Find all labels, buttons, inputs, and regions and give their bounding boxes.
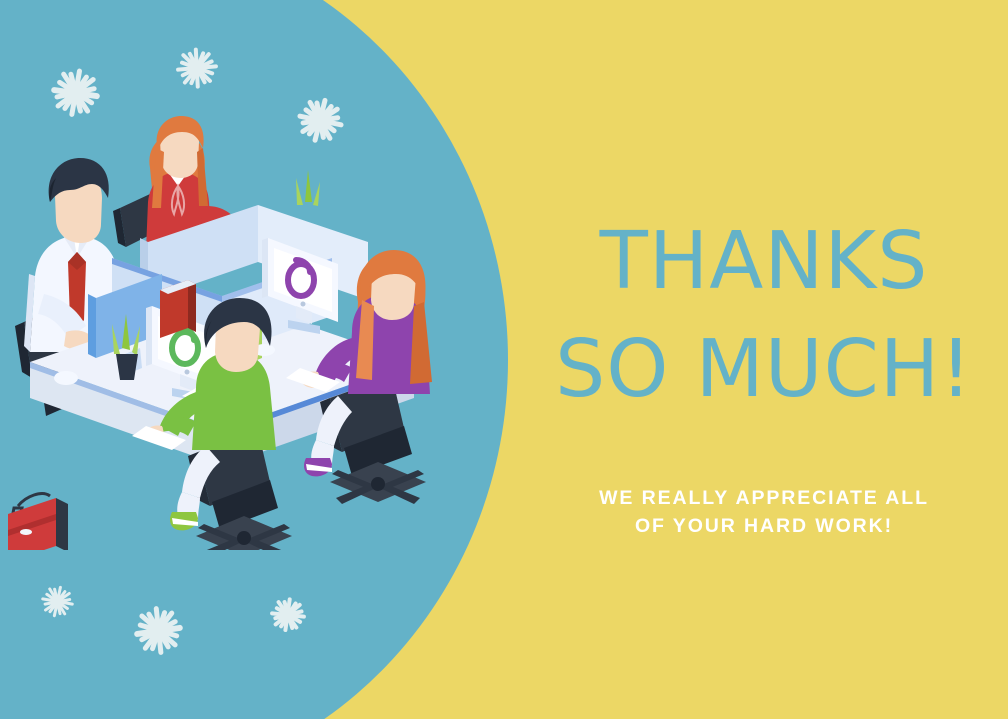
star-top-mid-icon	[174, 45, 220, 91]
briefcase-red	[8, 494, 68, 550]
book-stack-left	[160, 280, 196, 338]
message-block: THANKS SO MUCH! WE REALLY APPRECIATE ALL…	[520, 0, 1008, 719]
office-illustration	[0, 110, 470, 550]
subheadline-line-1: WE REALLY APPRECIATE ALL	[544, 484, 984, 512]
subheadline-line-2: OF YOUR HARD WORK!	[544, 512, 984, 540]
headline-line-2: SO MUCH!	[520, 330, 1008, 409]
star-bottom-left-icon	[38, 582, 76, 620]
greeting-card: THANKS SO MUCH! WE REALLY APPRECIATE ALL…	[0, 0, 1008, 719]
star-bottom-mid-icon	[130, 603, 186, 659]
headline-line-1: THANKS	[520, 222, 1008, 301]
star-bottom-right-icon	[268, 595, 308, 635]
plant-back	[296, 170, 320, 206]
